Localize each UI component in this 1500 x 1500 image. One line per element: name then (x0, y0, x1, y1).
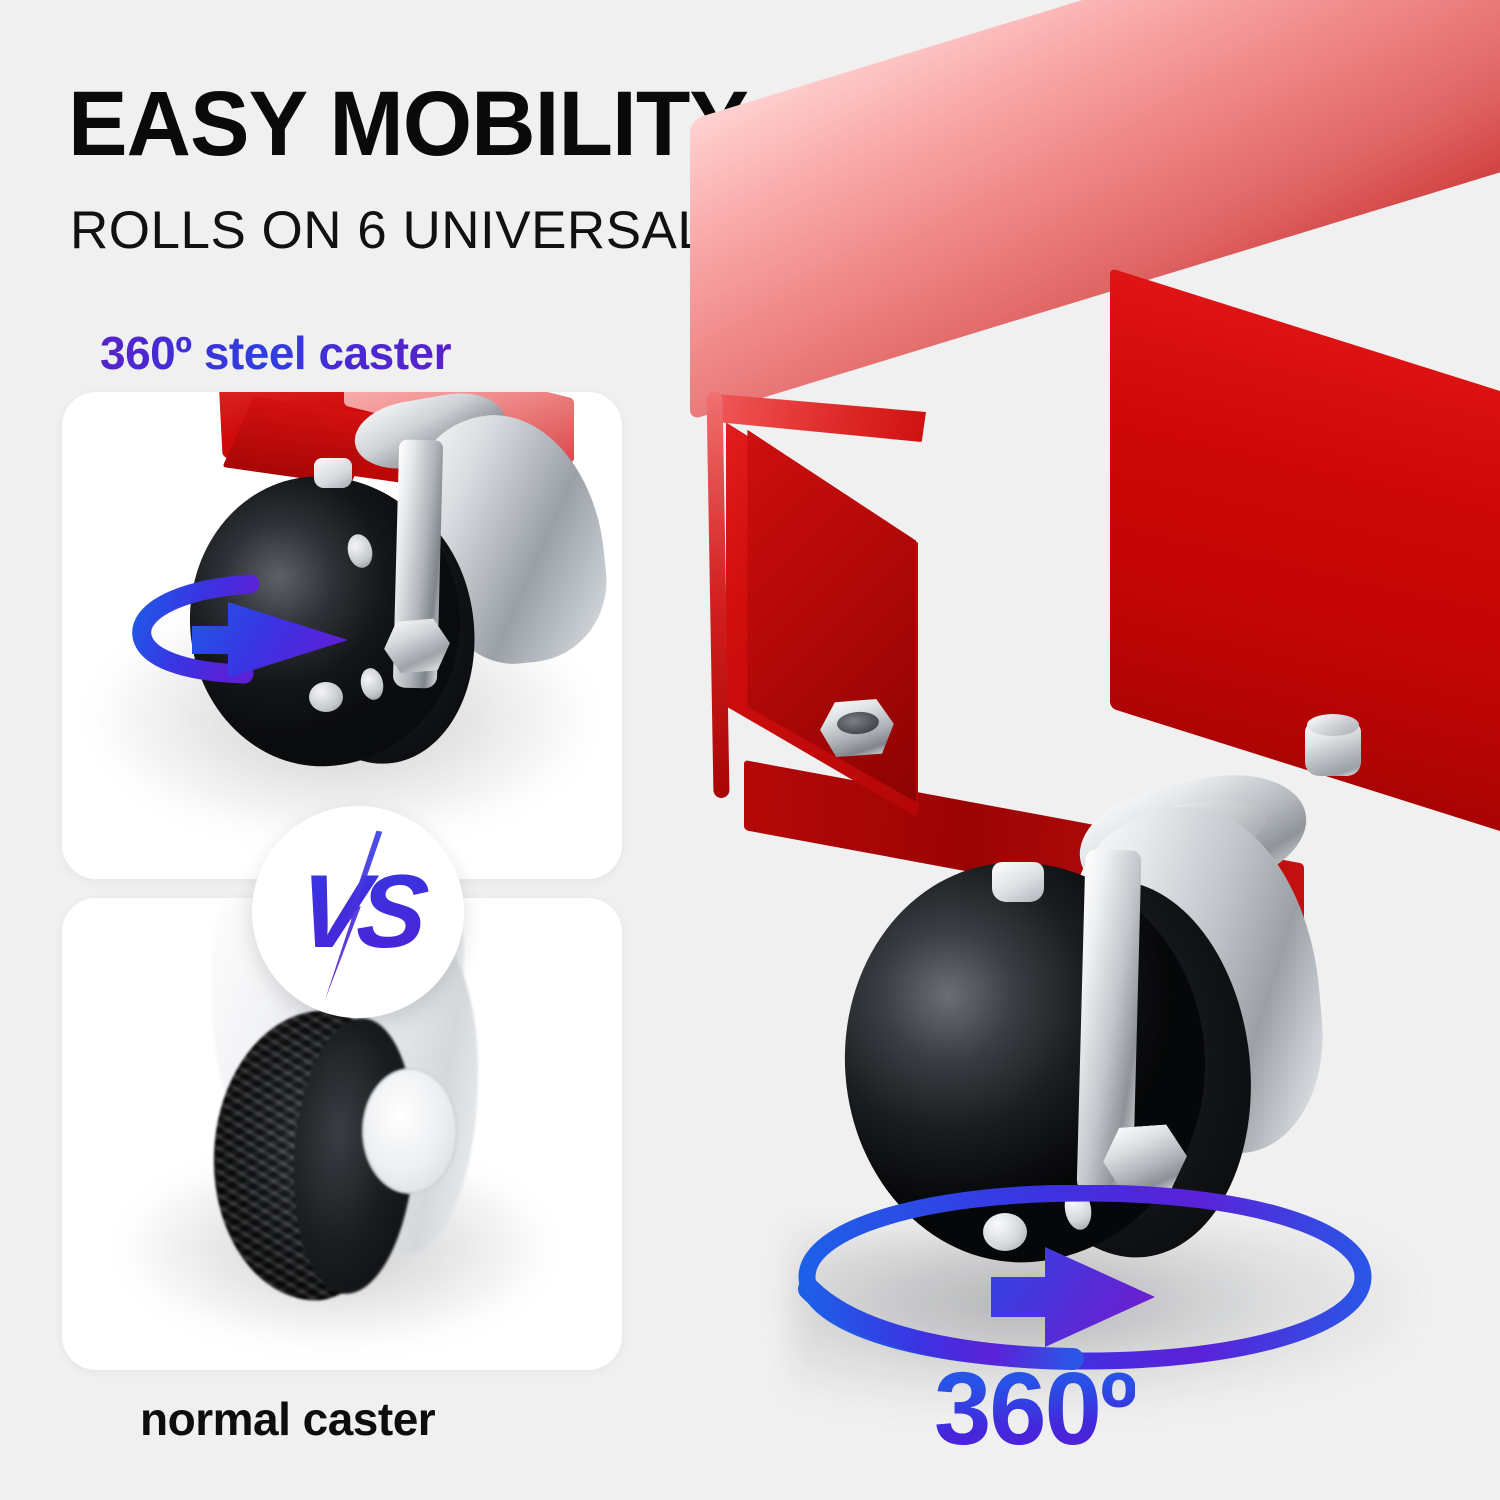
rotation-arrow-icon (132, 570, 462, 700)
caster-stem-pin (314, 458, 352, 488)
rotation-arrow-icon (795, 1185, 1375, 1385)
beam-side-face (1110, 268, 1500, 859)
secondary-bolt-top (1307, 714, 1359, 736)
plastic-hub-cap (362, 1068, 458, 1194)
steel-caster-label: 360º steel caster (100, 330, 451, 376)
normal-caster-label: normal caster (140, 1396, 435, 1442)
caster-stem-pin (992, 862, 1044, 902)
infographic-canvas: EASY MOBILITY ROLLS ON 6 UNIVERSAL STEEL… (0, 0, 1500, 1500)
vs-badge: VS (252, 806, 464, 1018)
